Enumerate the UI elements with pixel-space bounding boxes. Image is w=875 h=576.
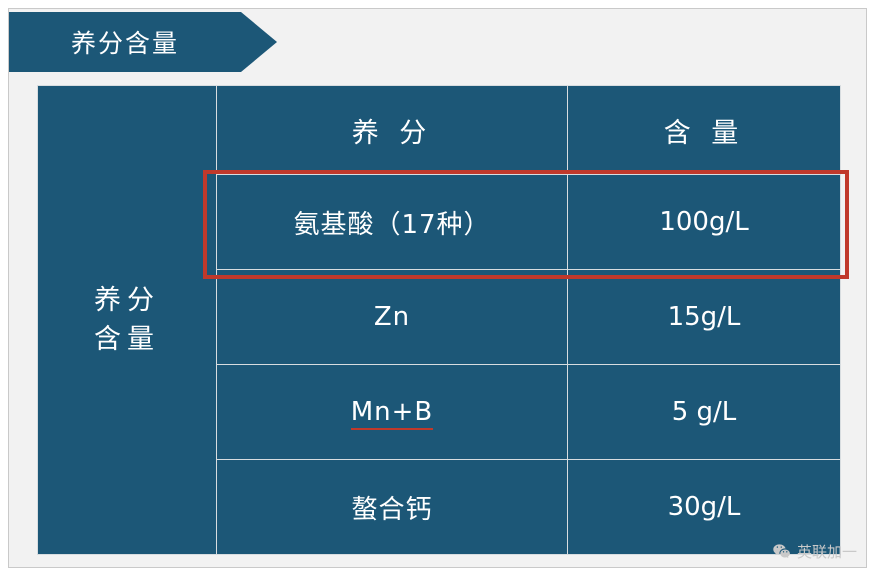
row-label-cell: 养分 含量: [38, 86, 217, 555]
nutrient-table-wrapper: 养分 含量 养 分 含 量 氨基酸（17种） 100g/L Zn 15g/L M…: [37, 85, 839, 551]
nutrient-table: 养分 含量 养 分 含 量 氨基酸（17种） 100g/L Zn 15g/L M…: [37, 85, 841, 555]
cell-nutrient-value: 5 g/L: [568, 365, 841, 460]
cell-nutrient-name: Zn: [217, 270, 568, 365]
row-label-line-1: 养分: [38, 281, 216, 320]
cell-nutrient-value: 15g/L: [568, 270, 841, 365]
slide-root: 养分含量 养分 含量 养 分 含 量 氨基酸（17种） 100g/L Zn 15…: [0, 0, 875, 576]
title-banner: 养分含量: [9, 12, 277, 72]
cell-nutrient-name-text: Mn+B: [351, 397, 434, 430]
header-nutrient: 养 分: [217, 86, 568, 175]
watermark: 英联加一: [772, 541, 857, 562]
watermark-text: 英联加一: [797, 541, 857, 562]
cell-nutrient-name: 氨基酸（17种）: [217, 175, 568, 270]
row-label-line-2: 含量: [38, 320, 216, 359]
page-title: 养分含量: [71, 24, 179, 60]
table-header-row: 养分 含量 养 分 含 量: [38, 86, 841, 175]
header-content: 含 量: [568, 86, 841, 175]
cell-nutrient-name: 螯合钙: [217, 460, 568, 555]
wechat-icon: [772, 542, 791, 561]
cell-nutrient-value: 100g/L: [568, 175, 841, 270]
cell-nutrient-name: Mn+B: [217, 365, 568, 460]
